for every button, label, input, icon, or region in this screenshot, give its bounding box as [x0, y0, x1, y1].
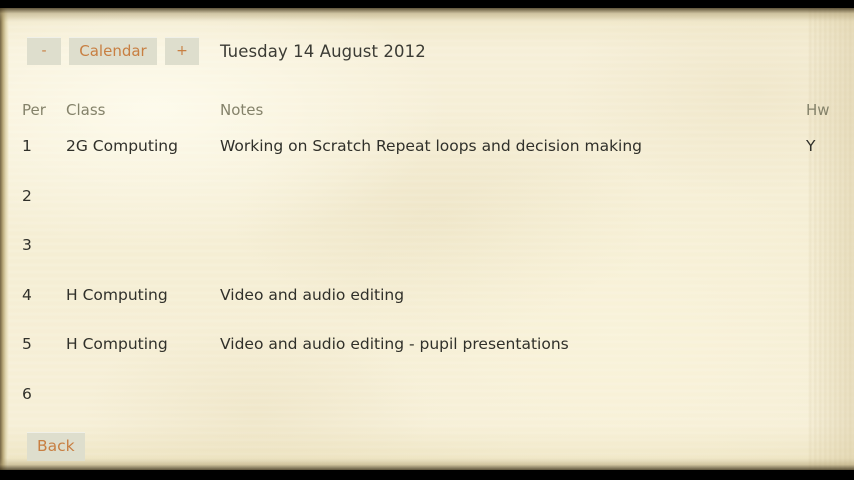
column-header-notes: Notes [220, 100, 263, 120]
cell-period: 3 [22, 235, 32, 255]
table-row[interactable]: 4 H Computing Video and audio editing [0, 285, 854, 335]
back-button[interactable]: Back [27, 432, 85, 461]
timetable: Per Class Notes Hw 1 2G Computing Workin… [0, 100, 854, 433]
cell-period: 6 [22, 384, 32, 404]
app-window: - Calendar + Tuesday 14 August 2012 Per … [0, 0, 854, 480]
table-row[interactable]: 3 [0, 235, 854, 285]
column-header-homework: Hw [806, 100, 830, 120]
column-header-class: Class [66, 100, 105, 120]
letterbox-bar-top [0, 0, 854, 8]
cell-homework: Y [806, 136, 815, 156]
toolbar: - Calendar + Tuesday 14 August 2012 [27, 37, 426, 65]
letterbox-bar-bottom [0, 470, 854, 480]
cell-notes: Video and audio editing [220, 285, 404, 305]
cell-class: H Computing [66, 334, 168, 354]
page-bottom-shadow [0, 458, 854, 470]
table-row[interactable]: 2 [0, 186, 854, 236]
table-row[interactable]: 6 [0, 384, 854, 434]
cell-period: 1 [22, 136, 32, 156]
cell-class: 2G Computing [66, 136, 178, 156]
next-day-button[interactable]: + [165, 37, 199, 65]
parchment-page: - Calendar + Tuesday 14 August 2012 Per … [0, 8, 854, 470]
current-date-label: Tuesday 14 August 2012 [220, 42, 426, 61]
cell-period: 2 [22, 186, 32, 206]
footer: Back [27, 432, 85, 461]
cell-notes: Video and audio editing - pupil presenta… [220, 334, 569, 354]
cell-period: 4 [22, 285, 32, 305]
cell-notes: Working on Scratch Repeat loops and deci… [220, 136, 642, 156]
page-top-shadow [0, 8, 854, 22]
cell-class: H Computing [66, 285, 168, 305]
table-row[interactable]: 5 H Computing Video and audio editing - … [0, 334, 854, 384]
timetable-header-row: Per Class Notes Hw [0, 100, 854, 136]
column-header-period: Per [22, 100, 46, 120]
cell-period: 5 [22, 334, 32, 354]
table-row[interactable]: 1 2G Computing Working on Scratch Repeat… [0, 136, 854, 186]
calendar-button[interactable]: Calendar [69, 37, 157, 65]
previous-day-button[interactable]: - [27, 37, 61, 65]
